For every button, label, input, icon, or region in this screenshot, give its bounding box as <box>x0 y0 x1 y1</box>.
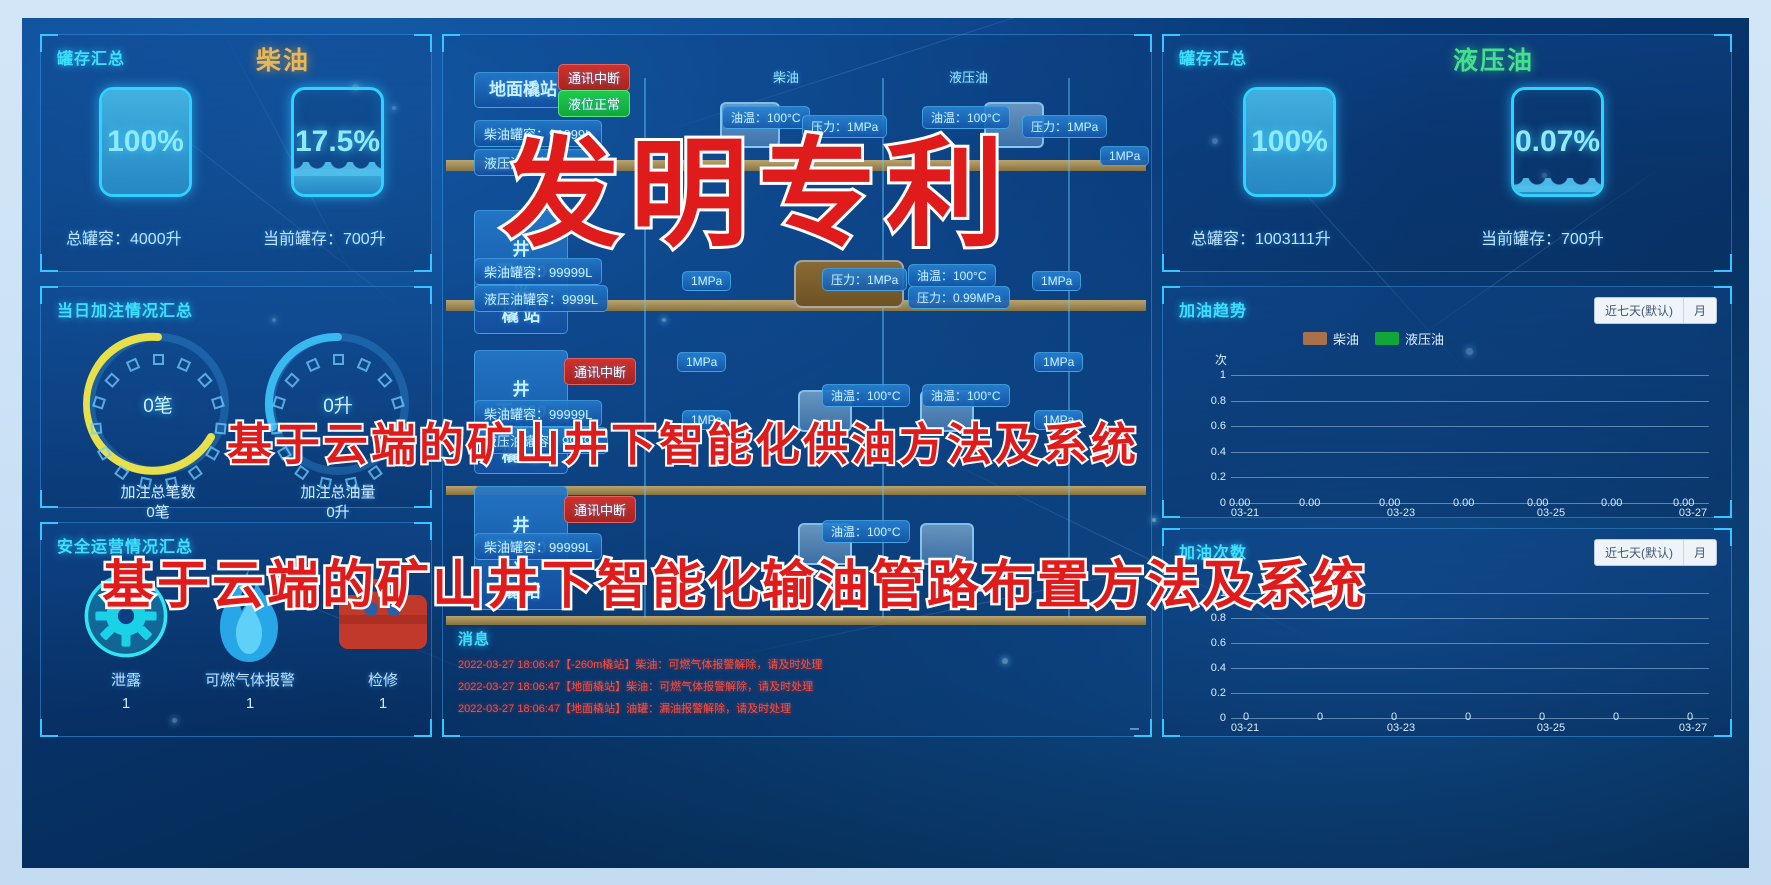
left-daily-panel-title: 当日加注情况汇总 <box>57 297 193 321</box>
left-total-tank: 100% <box>99 87 192 197</box>
trend-range-week[interactable]: 近七天(默认) <box>1595 298 1683 323</box>
trend-ytick-2: 0.4 <box>1211 446 1226 458</box>
right-total-tank: 100% <box>1243 87 1336 197</box>
count-xtick-0: 03-21 <box>1231 722 1259 734</box>
left-daily-panel: 当日加注情况汇总 0笔 加注总笔 <box>40 286 432 508</box>
trend-ytick-3: 0.6 <box>1211 420 1226 432</box>
trend-range-selector[interactable]: 近七天(默认) 月 <box>1594 297 1717 324</box>
trend-ytick-5: 1 <box>1220 369 1226 381</box>
count-ytick-0: 0 <box>1220 712 1226 724</box>
count-point-label-3: 0 <box>1465 711 1471 723</box>
mpa-tag-3: 1MPa <box>677 352 726 372</box>
left-current-capacity: 当前罐存：700升 <box>263 225 386 249</box>
safety-label-leak: 泄露 <box>81 669 171 690</box>
readout-mid-0: 压力：1MPa <box>822 268 907 291</box>
left-current-pct: 17.5% <box>294 125 381 159</box>
trend-xtick-0: 03-21 <box>1231 507 1259 519</box>
trend-xtick-2: 03-25 <box>1537 507 1565 519</box>
safety-value-leak: 1 <box>81 695 171 712</box>
gauge-count-label: 加注总笔数 <box>83 483 233 503</box>
readout-row3-0: 油温：100°C <box>822 384 910 407</box>
legend-swatch-diesel <box>1303 332 1327 345</box>
count-range-selector[interactable]: 近七天(默认) 月 <box>1594 539 1717 566</box>
left-current-tank: 17.5% <box>291 87 384 197</box>
left-total-pct: 100% <box>102 125 189 159</box>
readout-mid-2: 压力：0.99MPa <box>908 286 1010 309</box>
trend-point-label-5: 0.00 <box>1601 497 1622 509</box>
trend-point-label-3: 0.00 <box>1453 497 1474 509</box>
count-range-month[interactable]: 月 <box>1683 540 1716 565</box>
count-ytick-1: 0.2 <box>1211 687 1226 699</box>
dashboard-screen: 罐存汇总 柴油 100% 总罐容：4000升 17.5% 当前罐存：700升 当… <box>22 18 1749 868</box>
oil-label-diesel: 柴油 <box>764 64 808 89</box>
gauge-volume-sub: 0升 <box>263 503 413 523</box>
safety-value-maint: 1 <box>327 695 439 712</box>
collapse-handle[interactable]: – <box>1130 720 1139 738</box>
left-tank-panel-title: 罐存汇总 <box>57 45 125 69</box>
count-range-week[interactable]: 近七天(默认) <box>1595 540 1683 565</box>
mpa-tag-2: 1MPa <box>1032 271 1081 291</box>
readout-top-3: 压力：1MPa <box>1022 115 1107 138</box>
trend-xtick-1: 03-23 <box>1387 507 1415 519</box>
count-xtick-2: 03-25 <box>1537 722 1565 734</box>
message-panel-title: 消息 <box>458 628 490 649</box>
left-tank-panel: 罐存汇总 柴油 100% 总罐容：4000升 17.5% 当前罐存：700升 <box>40 34 432 272</box>
legend-item-diesel: 柴油 <box>1303 329 1359 348</box>
count-ytick-2: 0.4 <box>1211 662 1226 674</box>
right-total-pct: 100% <box>1246 125 1333 159</box>
right-tank-panel-title: 罐存汇总 <box>1179 45 1247 69</box>
legend-item-hydraulic: 液压油 <box>1375 329 1444 348</box>
readout-row4-0: 油温：100°C <box>822 520 910 543</box>
watermark-line-1: 基于云端的矿山井下智能化供油方法及系统 <box>227 408 1139 473</box>
station-status-3-0: 通讯中断 <box>564 496 636 523</box>
trend-range-month[interactable]: 月 <box>1683 298 1716 323</box>
right-tank-panel: 罐存汇总 液压油 100% 总罐容：1003111升 0.07% 当前罐存：70… <box>1162 34 1732 272</box>
message-line-1: 2022-03-27 18:06:47【地面橇站】柴油：可燃气体报警解除，请及时… <box>458 678 813 694</box>
safety-label-maint: 检修 <box>327 669 439 690</box>
station-tank-1-1: 液压油罐容：9999L <box>474 285 608 312</box>
right-oil-name: 液压油 <box>1453 41 1534 77</box>
right-total-capacity: 总罐容：1003111升 <box>1191 225 1331 249</box>
legend-label-diesel: 柴油 <box>1333 329 1359 348</box>
watermark-line-2: 基于云端的矿山井下智能化输油管路布置方法及系统 <box>102 543 1367 618</box>
watermark-title: 发明专利 <box>502 98 1014 269</box>
gauge-count: 0笔 <box>83 329 233 479</box>
trend-xtick-3: 03-27 <box>1679 507 1707 519</box>
trend-legend: 柴油 液压油 <box>1303 329 1444 348</box>
station-status-2-0: 通讯中断 <box>564 358 636 385</box>
readout-row3-1: 油温：100°C <box>922 384 1010 407</box>
gauge-count-value: 0笔 <box>83 329 233 479</box>
trend-point-label-1: 0.00 <box>1299 497 1320 509</box>
gauge-volume-label: 加注总油量 <box>263 483 413 503</box>
count-point-label-1: 0 <box>1317 711 1323 723</box>
count-ytick-3: 0.6 <box>1211 637 1226 649</box>
count-point-label-5: 0 <box>1613 711 1619 723</box>
legend-label-hydraulic: 液压油 <box>1405 329 1444 348</box>
message-line-2: 2022-03-27 18:06:47【地面橇站】油罐：漏油报警解除，请及时处理 <box>458 700 791 716</box>
safety-value-gas: 1 <box>189 695 311 712</box>
left-total-capacity: 总罐容：4000升 <box>66 225 182 249</box>
right-trend-panel-title: 加油趋势 <box>1179 297 1247 321</box>
right-current-tank: 0.07% <box>1511 87 1604 197</box>
mpa-tag-0: 1MPa <box>1100 146 1149 166</box>
trend-y-unit: 次 <box>1215 351 1227 368</box>
oil-label-hydraulic: 液压油 <box>940 64 997 89</box>
gauge-count-sub: 0笔 <box>83 503 233 523</box>
left-oil-name: 柴油 <box>256 41 310 77</box>
mpa-tag-4: 1MPa <box>1034 352 1083 372</box>
trend-ytick-4: 0.8 <box>1211 395 1226 407</box>
screenshot-root: 罐存汇总 柴油 100% 总罐容：4000升 17.5% 当前罐存：700升 当… <box>0 0 1771 885</box>
right-current-capacity: 当前罐存：700升 <box>1481 225 1604 249</box>
count-xtick-3: 03-27 <box>1679 722 1707 734</box>
trend-chart-plot: 1 0.8 0.6 0.4 0.2 0 0.00 0.00 0.00 0.00 … <box>1231 375 1709 503</box>
count-xtick-1: 03-23 <box>1387 722 1415 734</box>
riser-wire-right <box>1068 78 1070 618</box>
right-current-pct: 0.07% <box>1514 125 1601 159</box>
trend-ytick-0: 0 <box>1220 497 1226 509</box>
safety-label-gas: 可燃气体报警 <box>189 669 311 690</box>
legend-swatch-hydraulic <box>1375 332 1399 345</box>
mpa-tag-1: 1MPa <box>682 271 731 291</box>
message-line-0: 2022-03-27 18:06:47【-260m橇站】柴油：可燃气体报警解除，… <box>458 656 822 672</box>
station-status-0-0: 通讯中断 <box>558 64 630 91</box>
trend-ytick-1: 0.2 <box>1211 471 1226 483</box>
right-trend-panel: 加油趋势 近七天(默认) 月 柴油 液压油 次 <box>1162 286 1732 518</box>
